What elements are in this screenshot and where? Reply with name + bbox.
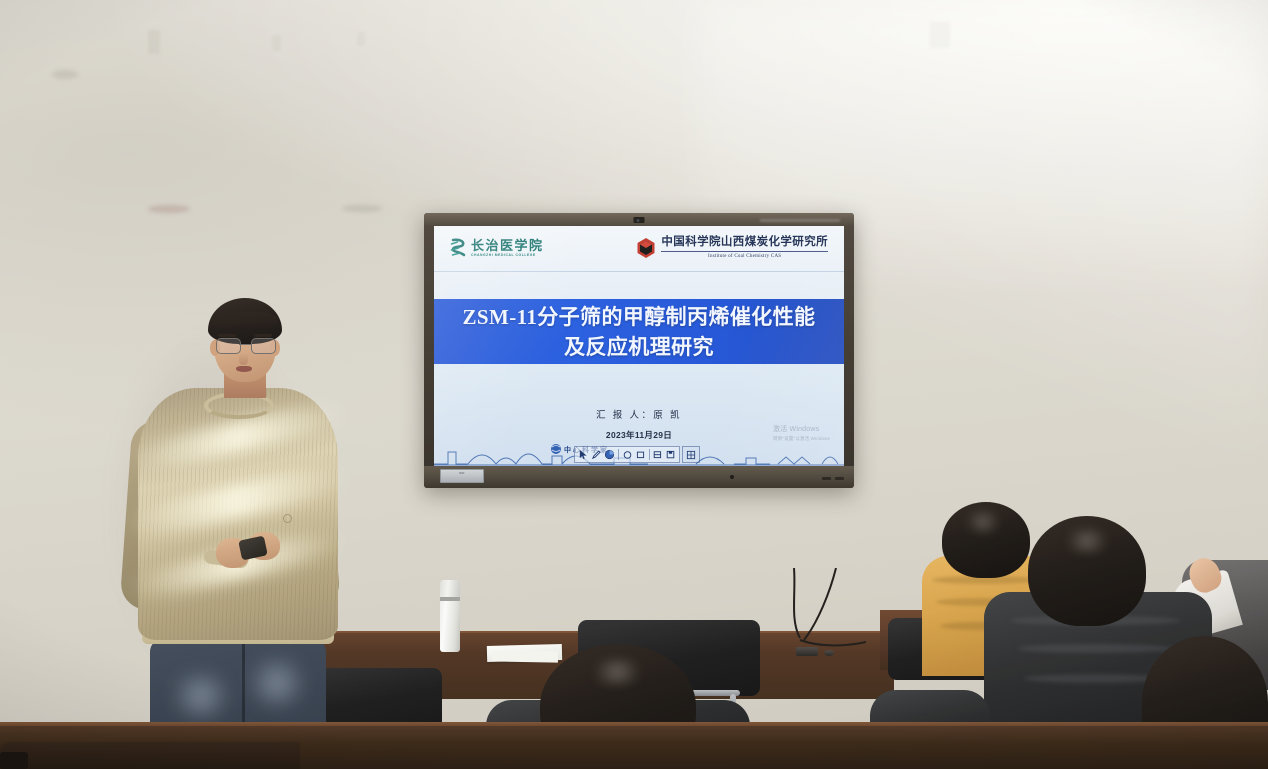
changzhi-logo-text: 长治医学院 CHANGZHI MEDICAL COLLEGE — [471, 239, 544, 257]
wall-mark — [930, 22, 950, 48]
shape-circle-icon[interactable] — [622, 449, 633, 460]
display-bottom-bezel: IFP — [424, 466, 854, 488]
changzhi-name-en: CHANGZHI MEDICAL COLLEGE — [471, 254, 544, 257]
pen-icon[interactable] — [591, 449, 602, 460]
presenter-sweater — [138, 388, 338, 640]
changzhi-logo: 长治医学院 CHANGZHI MEDICAL COLLEGE — [450, 238, 544, 259]
interactive-display[interactable]: 长治医学院 CHANGZHI MEDICAL COLLEGE 中国科学院山西煤炭… — [424, 213, 854, 488]
grid-tool-button[interactable] — [682, 446, 700, 463]
presenter-nose — [239, 353, 248, 365]
wall-mark — [272, 35, 281, 51]
camera-icon — [634, 217, 645, 223]
annotation-toolbar[interactable] — [574, 446, 680, 463]
wall-scuff — [342, 205, 382, 212]
shape-square-icon[interactable] — [635, 449, 646, 460]
hair-highlight — [586, 660, 648, 684]
front-desk-left-block — [0, 742, 300, 769]
cas-logo-mark — [636, 237, 656, 259]
display-button-row[interactable] — [822, 477, 844, 480]
cursor-icon[interactable] — [578, 449, 589, 460]
desk-object — [0, 752, 28, 769]
color-wheel-icon[interactable] — [604, 449, 615, 460]
save-icon[interactable] — [665, 449, 676, 460]
slide-presenter-line: 汇 报 人：原 凯 — [434, 407, 844, 421]
changzhi-name-cn: 长治医学院 — [471, 239, 544, 252]
toolbar-separator — [649, 449, 650, 460]
eraser-icon[interactable] — [652, 449, 663, 460]
sweater-logo-icon — [283, 514, 292, 523]
cas-icc-logo: 中国科学院山西煤炭化学研究所 Institute of Coal Chemist… — [636, 237, 828, 259]
svg-text:中: 中 — [564, 445, 571, 454]
wall-mark — [148, 30, 160, 54]
display-screen[interactable]: 长治医学院 CHANGZHI MEDICAL COLLEGE 中国科学院山西煤炭… — [434, 226, 844, 466]
slide-title-band: ZSM-11分子筛的甲醇制丙烯催化性能 及反应机理研究 — [434, 299, 844, 364]
slide-divider — [434, 271, 844, 272]
thermos-ring — [440, 597, 460, 601]
cas-logo-text: 中国科学院山西煤炭化学研究所 Institute of Coal Chemist… — [661, 237, 828, 259]
grid-icon[interactable] — [686, 450, 696, 460]
display-brand-label: IFP — [440, 469, 484, 483]
thermos-bottle — [440, 580, 460, 652]
denim-fade — [166, 674, 236, 718]
glasses-lens — [216, 338, 241, 354]
jacket-fold — [1018, 644, 1174, 653]
glasses-lens — [251, 338, 276, 354]
hair-highlight — [962, 512, 1004, 532]
watermark-line1: 激活 Windows — [773, 424, 830, 434]
denim-fade — [244, 658, 310, 708]
glasses-icon — [216, 338, 274, 353]
wall-scuff — [148, 205, 190, 213]
slide-title-line1: ZSM-11分子筛的甲醇制丙烯催化性能 — [463, 302, 816, 332]
presenter-eyebrow — [254, 334, 272, 337]
bezel-highlight — [760, 219, 840, 222]
cas-name-cn: 中国科学院山西煤炭化学研究所 — [661, 237, 828, 249]
slide-title-line2: 及反应机理研究 — [564, 332, 714, 362]
thermos-cap — [440, 580, 460, 597]
presenter — [120, 300, 335, 769]
wall-mark — [357, 32, 365, 46]
presenter-eyebrow — [218, 334, 236, 337]
changzhi-logo-mark — [450, 238, 467, 259]
wall-scuff — [52, 70, 78, 79]
ir-sensor-icon — [730, 475, 734, 479]
cable-connector — [796, 647, 818, 656]
presentation-room-photo: 长治医学院 CHANGZHI MEDICAL COLLEGE 中国科学院山西煤炭… — [0, 0, 1268, 769]
cas-name-en: Institute of Coal Chemistry CAS — [661, 251, 828, 259]
desk-cable — [770, 568, 900, 658]
glasses-bridge — [239, 344, 251, 345]
display-top-bezel — [424, 213, 854, 226]
display-button[interactable] — [835, 477, 844, 480]
toolbar-separator — [618, 449, 619, 460]
hair-highlight — [1060, 530, 1114, 552]
display-button[interactable] — [822, 477, 831, 480]
presenter-mouth — [236, 366, 252, 372]
display-brand-text: IFP — [441, 470, 483, 475]
paper-sheet — [492, 650, 558, 662]
cable-connector — [824, 650, 834, 656]
slide-logo-row: 长治医学院 CHANGZHI MEDICAL COLLEGE 中国科学院山西煤炭… — [434, 230, 844, 266]
